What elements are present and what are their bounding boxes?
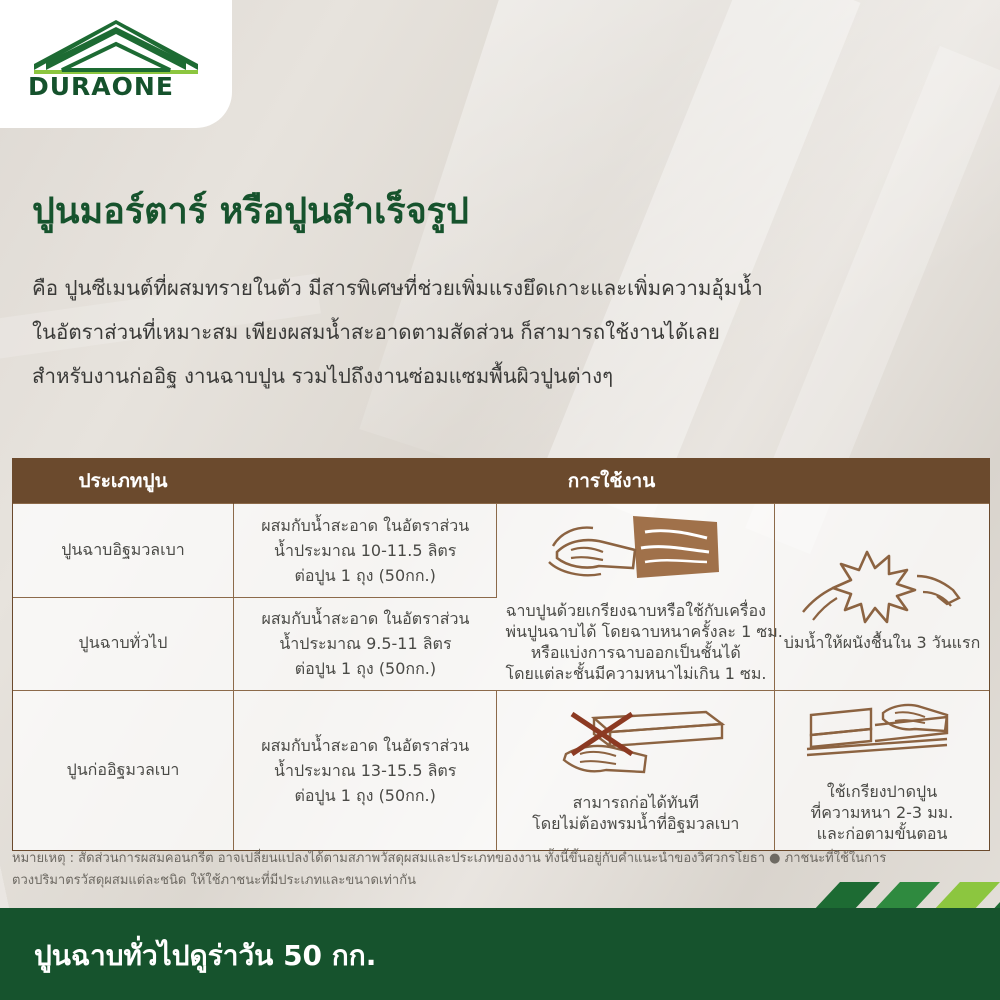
row2-type: ปูนฉาบทั่วไป [13,597,233,691]
row1-ratio-line3: ต่อปูน 1 ถุง (50กก.) [242,563,489,588]
row1-ratio: ผสมกับน้ำสะอาด ในอัตราส่วน น้ำประมาณ 10-… [233,504,497,598]
house-roof-icon [28,20,204,72]
brand-name-sub: ONE [112,72,174,101]
row2-ratio-line3: ต่อปูน 1 ถุง (50กก.) [242,656,489,681]
row3-type: ปูนก่ออิฐมวลเบา [13,691,233,851]
row2-usage-line2: พ่นปูนฉาบได้ โดยฉาบหนาครั้งละ 1 ซม. [505,621,766,642]
row3-ratio-line3: ต่อปูน 1 ถุง (50กก.) [242,783,489,808]
mortar-table: ประเภทปูน การใช้งาน ปูนฉาบอิฐมวลเบา ผสมก… [12,458,990,851]
brand-wordmark: DURAONE [28,74,204,99]
background-bar-1 [539,0,860,522]
row3-usage-right-line1: ใช้เกรียงปาดปูน [783,781,981,802]
notched-trowel-icon [797,697,967,777]
row3-ratio: ผสมกับน้ำสะอาด ในอัตราส่วน น้ำประมาณ 13-… [233,691,497,851]
row2-usage-line1: ฉาบปูนด้วยเกรียงฉาบหรือใช้กับเครื่อง [505,600,766,621]
brand-logo-badge: DURAONE [0,0,232,128]
row2-usage-line3: หรือแบ่งการฉาบออกเป็นชั้นได้ [505,642,766,663]
row2-ratio: ผสมกับน้ำสะอาด ในอัตราส่วน น้ำประมาณ 9.5… [233,597,497,691]
row3-usage-trowel: ใช้เกรียงปาดปูน ที่ความหนา 2-3 มม. และก่… [775,691,989,851]
row3-usage-right-line2: ที่ความหนา 2-3 มม. [783,802,981,823]
header-type: ประเภทปูน [13,459,233,504]
water-spray-icon [797,542,967,628]
row2-ratio-line1: ผสมกับน้ำสะอาด ในอัตราส่วน [242,606,489,631]
row12-usage-spray: บ่มน้ำให้ผนังชื้นใน 3 วันแรก [775,504,989,691]
row1-ratio-line2: น้ำประมาณ 10-11.5 ลิตร [242,538,489,563]
row3-usage-line1: สามารถก่อได้ทันที [505,792,766,813]
bottom-band: ปูนฉาบทั่วไปดูร่าวัน 50 กก. [0,908,1000,1000]
no-water-block-icon [536,708,736,788]
lead-line-1: คือ ปูนซีเมนต์ที่ผสมทรายในตัว มีสารพิเศษ… [32,266,972,310]
page-title: ปูนมอร์ตาร์ หรือปูนสำเร็จรูป [32,182,469,239]
table-row: ปูนก่ออิฐมวลเบา ผสมกับน้ำสะอาด ในอัตราส่… [13,691,989,851]
table-row: ปูนฉาบอิฐมวลเบา ผสมกับน้ำสะอาด ในอัตราส่… [13,504,989,598]
table-header-row: ประเภทปูน การใช้งาน [13,459,989,504]
row2-usage-line4: โดยแต่ละชั้นมีความหนาไม่เกิน 1 ซม. [505,663,766,684]
row3-ratio-line1: ผสมกับน้ำสะอาด ในอัตราส่วน [242,733,489,758]
poster-page: DURAONE ปูนมอร์ตาร์ หรือปูนสำเร็จรูป คือ… [0,0,1000,1000]
row1-type: ปูนฉาบอิฐมวลเบา [13,504,233,598]
brand-name-main: DURA [28,72,112,101]
row3-usage-block: สามารถก่อได้ทันที โดยไม่ต้องพรมน้ำที่อิฐ… [497,691,775,851]
row12-usage-plaster: ฉาบปูนด้วยเกรียงฉาบหรือใช้กับเครื่อง พ่น… [497,504,775,691]
hand-trowel-plaster-icon [541,510,731,596]
row3-usage-line2: โดยไม่ต้องพรมน้ำที่อิฐมวลเบา [505,813,766,834]
row1-ratio-line1: ผสมกับน้ำสะอาด ในอัตราส่วน [242,513,489,538]
row2-ratio-line2: น้ำประมาณ 9.5-11 ลิตร [242,631,489,656]
header-usage: การใช้งาน [233,459,989,504]
lead-paragraph: คือ ปูนซีเมนต์ที่ผสมทรายในตัว มีสารพิเศษ… [32,266,972,398]
lead-line-3: สำหรับงานก่ออิฐ งานฉาบปูน รวมไปถึงงานซ่อ… [32,354,972,398]
row3-ratio-line2: น้ำประมาณ 13-15.5 ลิตร [242,758,489,783]
row2-usage-right-line1: บ่มน้ำให้ผนังชื้นใน 3 วันแรก [783,632,981,653]
bottom-band-text: ปูนฉาบทั่วไปดูร่าวัน 50 กก. [34,934,376,978]
lead-line-2: ในอัตราส่วนที่เหมาะสม เพียงผสมน้ำสะอาดตา… [32,310,972,354]
